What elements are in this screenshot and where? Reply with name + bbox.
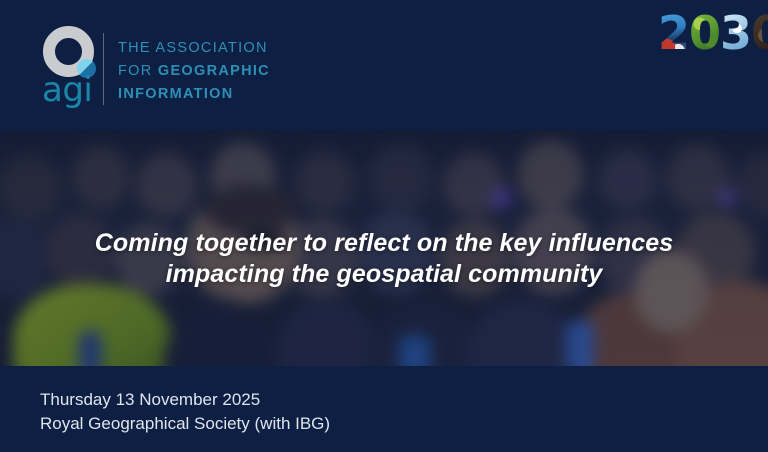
association-line-1: THE ASSOCIATION bbox=[118, 37, 270, 60]
agi-wordmark: agi bbox=[42, 73, 92, 107]
association-name: THE ASSOCIATION FOR GEOGRAPHIC INFORMATI… bbox=[118, 37, 270, 106]
logo-divider bbox=[103, 33, 104, 105]
2030-logo[interactable]: 2 0 3 0 bbox=[658, 8, 750, 56]
event-venue: Royal Geographical Society (with IBG) bbox=[40, 412, 330, 436]
association-line-3: INFORMATION bbox=[118, 83, 270, 106]
hero-headline-line-1: Coming together to reflect on the key in… bbox=[0, 228, 768, 259]
association-line-2-light: FOR bbox=[118, 63, 153, 79]
association-line-2-strong: GEOGRAPHIC bbox=[158, 63, 270, 79]
hero-headline-line-2: impacting the geospatial community bbox=[0, 259, 768, 290]
event-details: Thursday 13 November 2025 Royal Geograph… bbox=[40, 388, 330, 436]
agi-logo[interactable]: agi bbox=[38, 26, 100, 108]
year-digit-4: 0 bbox=[751, 10, 768, 56]
year-digit-2: 0 bbox=[689, 10, 720, 56]
header-band: agi THE ASSOCIATION FOR GEOGRAPHIC INFOR… bbox=[0, 0, 768, 130]
year-digit-1: 2 bbox=[658, 10, 689, 56]
event-banner: agi THE ASSOCIATION FOR GEOGRAPHIC INFOR… bbox=[0, 0, 768, 452]
association-line-2: FOR GEOGRAPHIC bbox=[118, 60, 270, 83]
year-digit-3: 3 bbox=[720, 10, 751, 56]
footer-band: Thursday 13 November 2025 Royal Geograph… bbox=[0, 366, 768, 452]
hero-headline: Coming together to reflect on the key in… bbox=[0, 228, 768, 290]
event-date: Thursday 13 November 2025 bbox=[40, 388, 330, 412]
